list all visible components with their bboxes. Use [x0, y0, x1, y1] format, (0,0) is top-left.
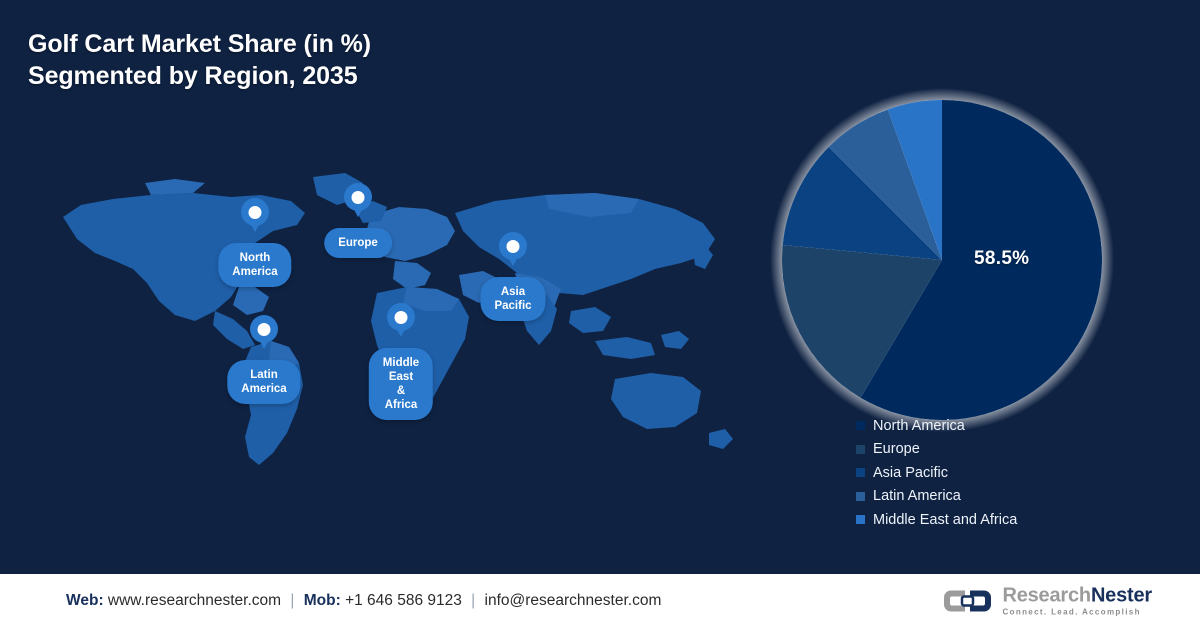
- map-pin-icon: [499, 232, 527, 270]
- legend-swatch: [856, 515, 865, 524]
- page-title: Golf Cart Market Share (in %) Segmented …: [28, 28, 371, 92]
- legend-item-europe[interactable]: Europe: [856, 438, 1017, 462]
- map-marker-label-north-america: North America: [218, 243, 291, 287]
- map-pin-icon: [387, 303, 415, 341]
- footer-email[interactable]: info@researchnester.com: [485, 592, 662, 609]
- legend-item-asia-pacific[interactable]: Asia Pacific: [856, 461, 1017, 485]
- legend-item-latin-america[interactable]: Latin America: [856, 485, 1017, 509]
- legend-swatch: [856, 445, 865, 454]
- logo-name-second: Nester: [1091, 585, 1152, 607]
- footer-bar: Web: www.researchnester.com | Mob: +1 64…: [0, 574, 1200, 628]
- pie-slices: [782, 100, 1102, 420]
- map-pin-icon: [250, 315, 278, 353]
- infographic-canvas: Golf Cart Market Share (in %) Segmented …: [0, 0, 1200, 628]
- legend-label: Latin America: [873, 489, 961, 504]
- world-map: North America Europe Asia Pacific Latin …: [55, 165, 745, 475]
- footer-web-label: Web:: [66, 592, 104, 609]
- legend-swatch: [856, 492, 865, 501]
- map-marker-label-asia-pacific: Asia Pacific: [480, 277, 545, 321]
- pie-slice-value-north-america: 58.5%: [974, 248, 1029, 270]
- footer-separator: |: [466, 592, 480, 609]
- legend-item-north-america[interactable]: North America: [856, 414, 1017, 438]
- legend-swatch: [856, 468, 865, 477]
- legend-label: Europe: [873, 442, 920, 457]
- map-pin-icon: [241, 198, 269, 236]
- footer-mob-value[interactable]: +1 646 586 9123: [345, 592, 462, 609]
- footer-contact: Web: www.researchnester.com | Mob: +1 64…: [66, 592, 661, 610]
- legend-item-middle-east-africa[interactable]: Middle East and Africa: [856, 508, 1017, 532]
- legend-swatch: [856, 421, 865, 430]
- logo-name-first: Research: [1002, 585, 1090, 607]
- logo-tagline: Connect. Lead. Accomplish: [1002, 609, 1152, 617]
- map-marker-label-latin-america: Latin America: [227, 360, 300, 404]
- legend-label: North America: [873, 419, 965, 434]
- map-marker-label-middle-east-africa: Middle East & Africa: [369, 348, 433, 420]
- map-marker-label-europe: Europe: [324, 228, 392, 258]
- footer-separator: |: [285, 592, 299, 609]
- pie-chart: 58.5%: [762, 80, 1122, 440]
- brand-logo[interactable]: ResearchNester Connect. Lead. Accomplish: [942, 586, 1152, 617]
- map-pin-icon: [344, 183, 372, 221]
- chart-legend: North America Europe Asia Pacific Latin …: [856, 414, 1017, 532]
- legend-label: Middle East and Africa: [873, 513, 1017, 528]
- logo-wordmark: ResearchNester Connect. Lead. Accomplish: [1002, 586, 1152, 617]
- footer-mob-label: Mob:: [304, 592, 341, 609]
- logo-mark-icon: [942, 588, 994, 615]
- footer-web-value[interactable]: www.researchnester.com: [108, 592, 281, 609]
- legend-label: Asia Pacific: [873, 466, 948, 481]
